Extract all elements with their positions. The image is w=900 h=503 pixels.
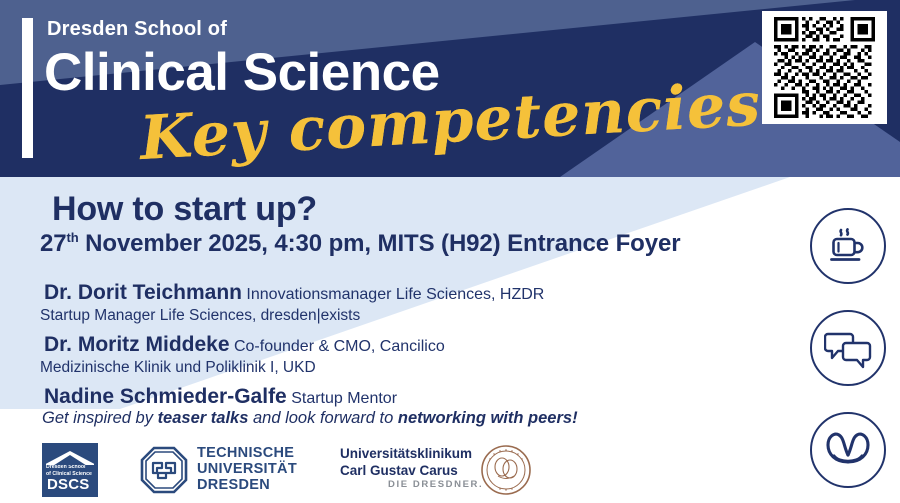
speaker-entry: Dr. Moritz Middeke Co-founder & CMO, Can…	[44, 333, 445, 357]
icon-badge-coffee	[810, 208, 886, 284]
header-eyebrow: Dresden School of	[47, 18, 227, 41]
speaker-name: Nadine Schmieder-Galfe	[44, 385, 287, 408]
event-tagline: Get inspired by teaser talks and look fo…	[42, 409, 578, 428]
speaker-affiliation: Startup Manager Life Sciences, dresden|e…	[40, 307, 360, 325]
event-headline: How to start up?	[52, 190, 317, 229]
speech-bubbles-icon	[824, 327, 872, 369]
tagline-bold2: networking with peers!	[398, 409, 578, 427]
ukd-tagline: DIE DRESDNER.	[388, 479, 483, 490]
event-dateline: 27th November 2025, 4:30 pm, MITS (H92) …	[40, 230, 680, 258]
header-accent-bar	[22, 18, 33, 158]
tu-dresden-mark-icon	[140, 446, 188, 494]
tagline-part2: and look forward to	[248, 409, 398, 427]
qr-code[interactable]	[762, 11, 887, 124]
speaker-role: Startup Mentor	[287, 390, 397, 407]
dscs-acronym: DSCS	[47, 477, 97, 492]
icon-badge-discussion	[810, 310, 886, 386]
logo-tu-dresden: TECHNISCHE UNIVERSITÄT DRESDEN	[140, 444, 325, 496]
speaker-entry: Nadine Schmieder-Galfe Startup Mentor	[44, 385, 397, 409]
ukd-wordmark: Universitätsklinikum Carl Gustav Carus	[340, 446, 472, 480]
date-day: 27	[40, 230, 67, 257]
qr-code-icon	[768, 17, 881, 118]
tud-line3: DRESDEN	[197, 477, 270, 493]
speaker-name: Dr. Moritz Middeke	[44, 333, 230, 356]
ukd-line1: Universitätsklinikum	[340, 446, 472, 461]
logo-dscs: Dresden School of Clinical Science DSCS	[42, 443, 98, 497]
tagline-bold1: teaser talks	[158, 409, 249, 427]
carus-seal-icon	[480, 444, 532, 496]
tud-line1: TECHNISCHE	[197, 445, 294, 461]
date-rest: November 2025, 4:30 pm, MITS (H92) Entra…	[79, 230, 681, 257]
speaker-role: Co-founder & CMO, Cancilico	[230, 338, 445, 355]
dscs-roof-icon	[42, 443, 98, 465]
tu-dresden-wordmark: TECHNISCHE UNIVERSITÄT DRESDEN	[197, 445, 297, 494]
speaker-role: Innovationsmanager Life Sciences, HZDR	[242, 286, 544, 303]
speaker-entry: Dr. Dorit Teichmann Innovationsmanager L…	[44, 281, 544, 305]
speaker-affiliation: Medizinische Klinik und Poliklinik I, UK…	[40, 359, 316, 377]
logo-uniklinikum-carl-gustav-carus: Universitätsklinikum Carl Gustav Carus D…	[340, 446, 590, 496]
speaker-name: Dr. Dorit Teichmann	[44, 281, 242, 304]
logo-row: Dresden School of Clinical Science DSCS …	[0, 440, 900, 503]
coffee-cup-icon	[825, 223, 871, 269]
ukd-line2: Carl Gustav Carus	[340, 463, 458, 478]
tud-line2: UNIVERSITÄT	[197, 461, 297, 477]
poster-header: Dresden School of Clinical Science Key c…	[0, 0, 900, 177]
date-ordinal: th	[67, 230, 79, 245]
poster-root: Dresden School of Clinical Science Key c…	[0, 0, 900, 503]
tagline-part1: Get inspired by	[42, 409, 158, 427]
